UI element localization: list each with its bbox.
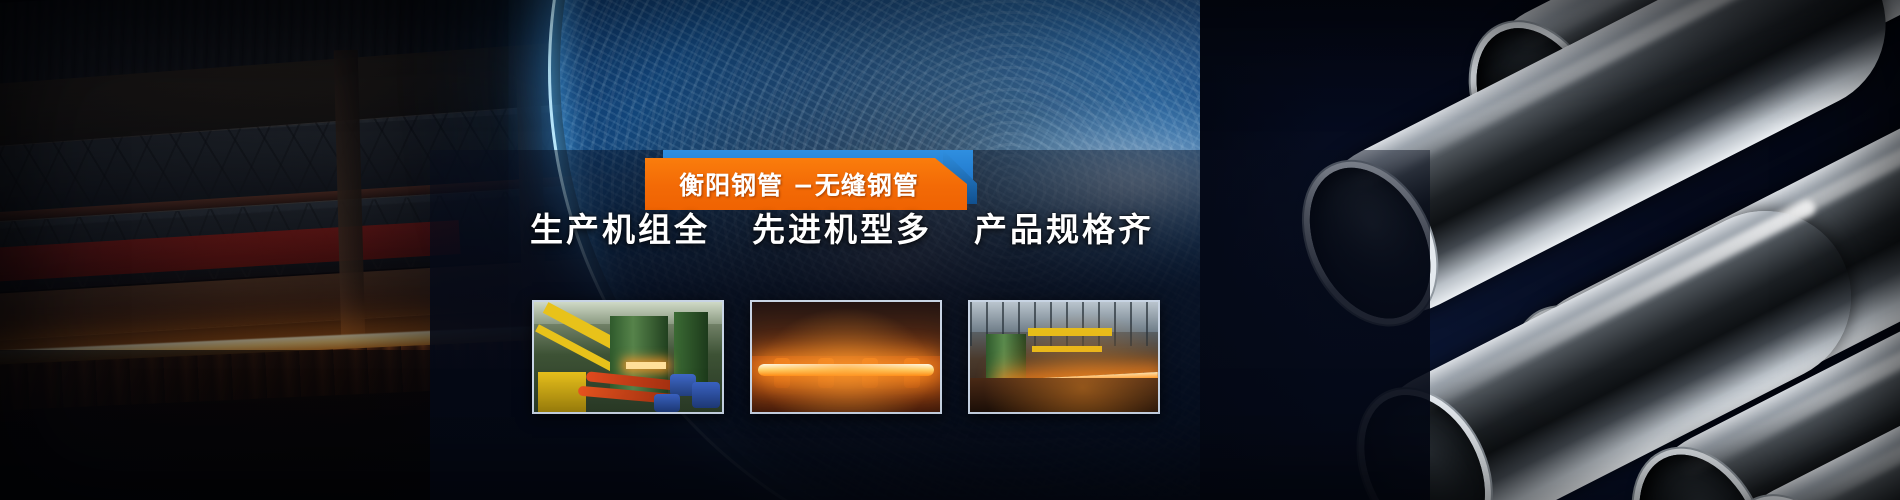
headline-item-2: 先进机型多: [752, 203, 932, 251]
thumb1-blue-motor-2: [692, 382, 720, 408]
thumbnail-strip: [532, 300, 1160, 414]
headline-item-1: 生产机组全: [530, 203, 710, 251]
badge-label: 衡阳钢管 −无缝钢管: [679, 166, 933, 202]
thumbnail-rolling-mill[interactable]: [532, 300, 724, 414]
thumbnail-hot-billet[interactable]: [750, 300, 942, 414]
promo-banner: 衡阳钢管 −无缝钢管 生产机组全 先进机型多 产品规格齐: [0, 0, 1900, 500]
thumb3-heat-glow: [970, 302, 1158, 412]
thumbnail-mill-hall[interactable]: [968, 300, 1160, 414]
thumb1-blue-motor-3: [654, 394, 680, 412]
headline-group: 生产机组全 先进机型多 产品规格齐: [530, 200, 1360, 254]
headline-item-3: 产品规格齐: [974, 203, 1154, 251]
thumb2-heat-glow: [752, 302, 940, 412]
thumb1-hot-glow: [626, 362, 666, 369]
